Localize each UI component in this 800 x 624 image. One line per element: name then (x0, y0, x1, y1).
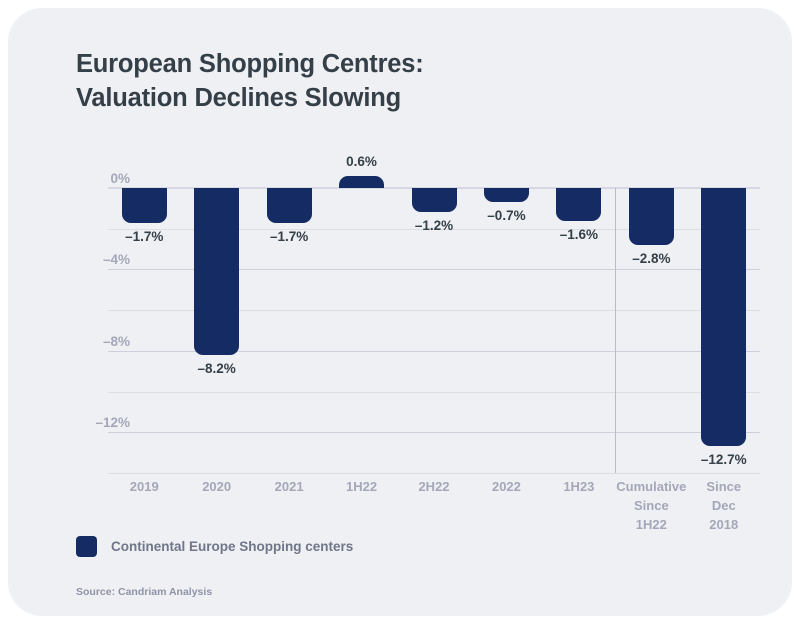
bar-value-label: 0.6% (312, 154, 412, 169)
bar-value-label: –0.7% (456, 208, 556, 223)
chart-legend: Continental Europe Shopping centers (76, 536, 353, 557)
bar (701, 188, 746, 446)
chart-card: European Shopping Centres: Valuation Dec… (8, 8, 792, 616)
grid-line (108, 392, 760, 393)
x-axis-tick-label: Since Dec 2018 (674, 478, 774, 535)
y-axis-tick-label: –12% (76, 415, 130, 430)
chart-plot-area: 0%–4%–8%–12% –1.7%–8.2%–1.7%0.6%–1.2%–0.… (76, 148, 760, 478)
bar (412, 188, 457, 212)
bar (122, 188, 167, 223)
bar (339, 176, 384, 188)
bar (194, 188, 239, 355)
page-title: European Shopping Centres: Valuation Dec… (76, 48, 696, 116)
y-axis-tick-label: 0% (76, 171, 130, 186)
y-axis-tick-label: –8% (76, 334, 130, 349)
bar-value-label: –8.2% (167, 361, 267, 376)
bar-value-label: –2.8% (601, 251, 701, 266)
legend-item-label: Continental Europe Shopping centers (111, 539, 353, 554)
bar (629, 188, 674, 245)
bar-value-label: –12.7% (674, 452, 774, 467)
bar-value-label: –1.7% (94, 229, 194, 244)
grid-line (108, 432, 760, 433)
bar (484, 188, 529, 202)
legend-swatch-icon (76, 536, 97, 557)
source-note: Source: Candriam Analysis (76, 586, 212, 598)
bar-value-label: –1.7% (239, 229, 339, 244)
grid-line (108, 473, 760, 474)
y-axis-tick-label: –4% (76, 252, 130, 267)
bar (556, 188, 601, 221)
bar (267, 188, 312, 223)
bar-value-label: –1.6% (529, 227, 629, 242)
